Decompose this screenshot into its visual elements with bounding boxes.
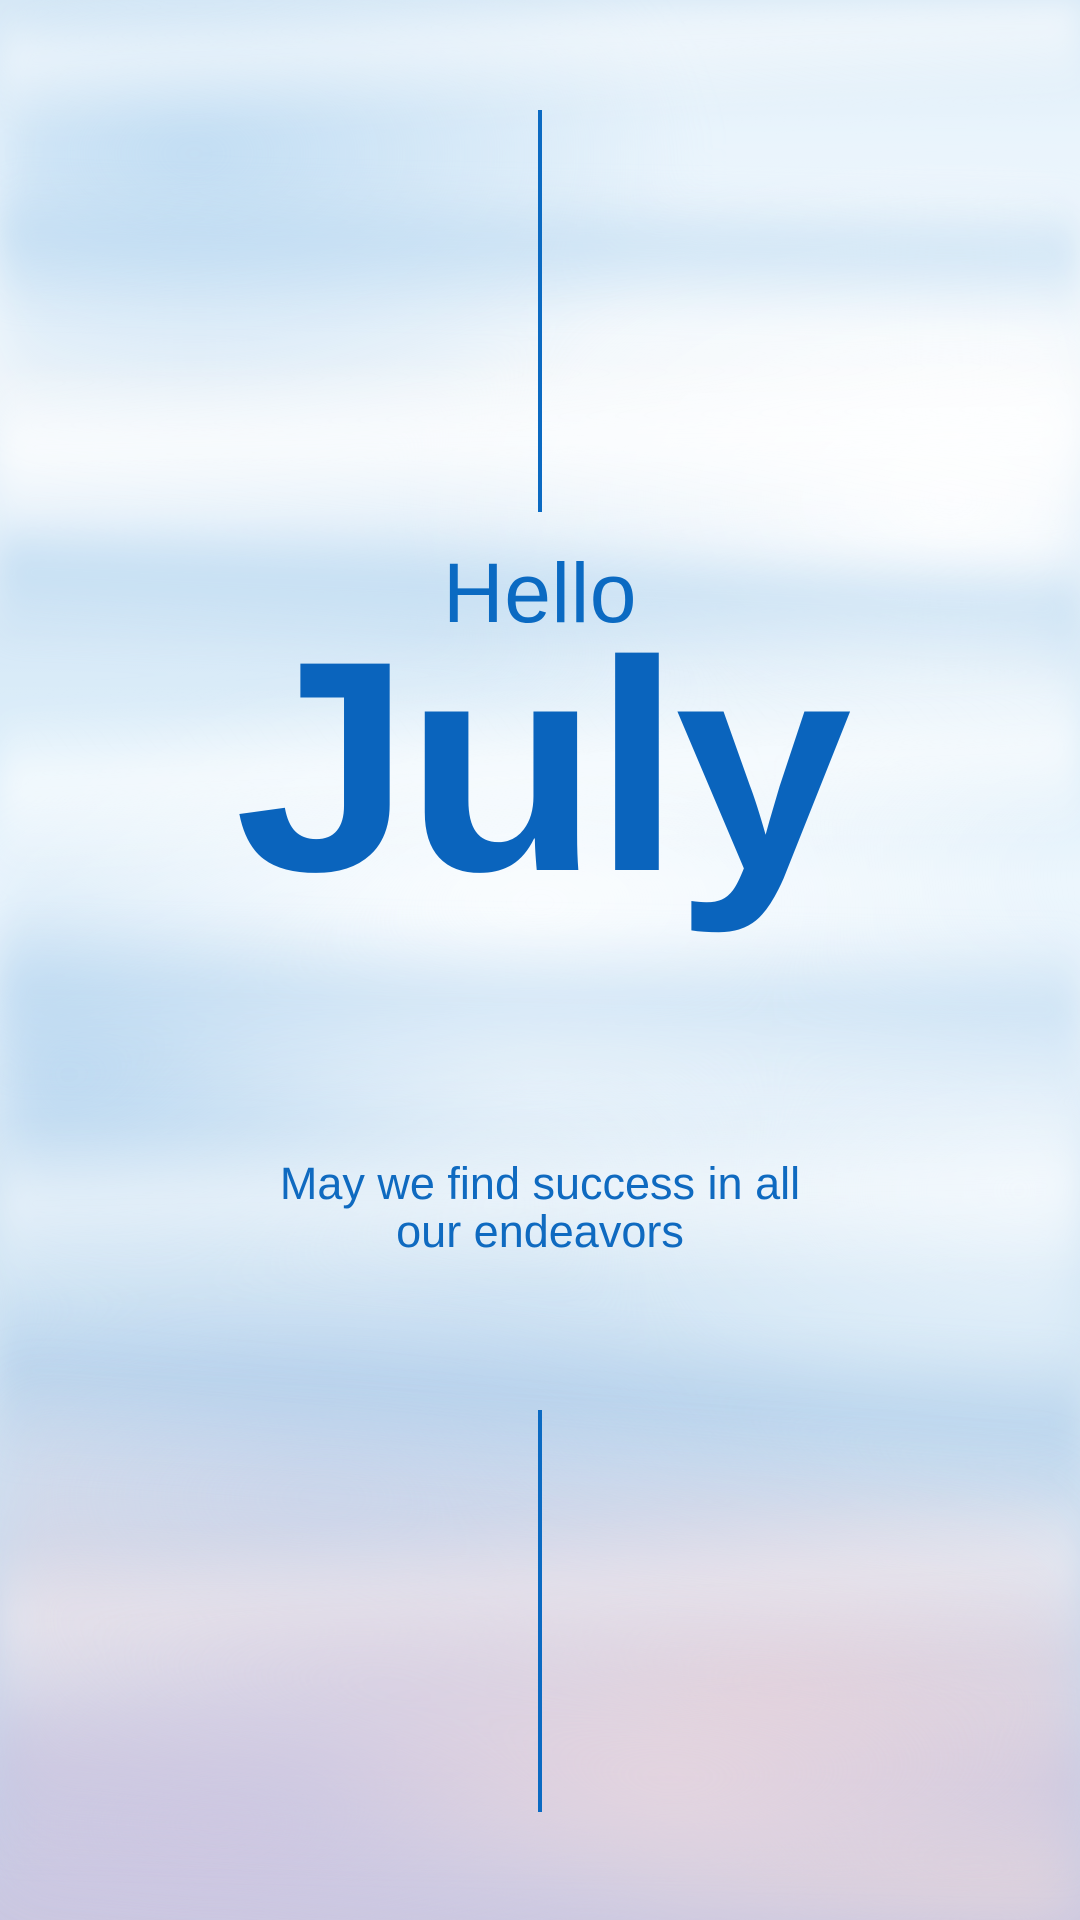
poster-canvas: Hello July May we find success in all ou… — [0, 0, 1080, 1920]
poster-content: Hello July May we find success in all ou… — [0, 0, 1080, 1920]
top-vertical-rule-icon — [538, 110, 542, 512]
bottom-vertical-rule-icon — [538, 1410, 542, 1812]
month-title: July — [0, 616, 1080, 916]
tagline-line-2: our endeavors — [0, 1208, 1080, 1256]
tagline-line-1: May we find success in all — [0, 1160, 1080, 1208]
tagline: May we find success in all our endeavors — [0, 1160, 1080, 1256]
